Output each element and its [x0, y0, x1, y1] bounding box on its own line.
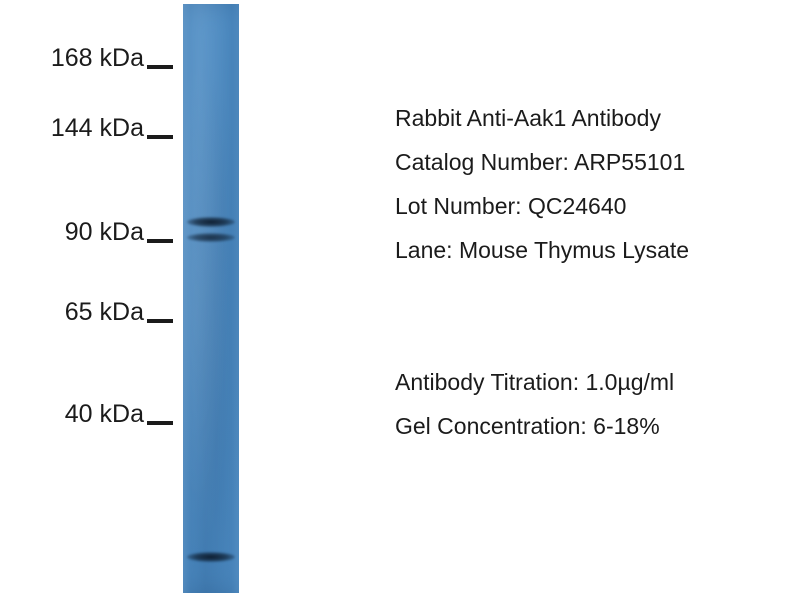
mw-marker-168: 168 kDa	[0, 38, 183, 78]
gel-lane-texture	[183, 4, 239, 593]
mw-marker-label: 65 kDa	[65, 300, 144, 325]
gel-band-lower-90	[187, 233, 235, 242]
info-lot-number: Lot Number: QC24640	[395, 184, 790, 228]
mw-marker-40: 40 kDa	[0, 394, 183, 434]
info-gel-concentration: Gel Concentration: 6-18%	[395, 404, 790, 448]
gel-band-low-mw	[187, 552, 235, 562]
mw-marker-label: 144 kDa	[51, 116, 144, 141]
mw-marker-label: 90 kDa	[65, 220, 144, 245]
antibody-info-secondary: Antibody Titration: 1.0µg/ml Gel Concent…	[395, 360, 790, 448]
mw-tick-icon	[147, 319, 173, 323]
mw-tick-icon	[147, 135, 173, 139]
mw-marker-label: 40 kDa	[65, 402, 144, 427]
info-antibody-name: Rabbit Anti-Aak1 Antibody	[395, 96, 790, 140]
info-lane-sample: Lane: Mouse Thymus Lysate	[395, 228, 790, 272]
gel-lane	[183, 4, 239, 593]
mw-marker-90: 90 kDa	[0, 212, 183, 252]
molecular-weight-ladder: 168 kDa 144 kDa 90 kDa 65 kDa 40 kDa	[0, 0, 183, 600]
mw-marker-label: 168 kDa	[51, 46, 144, 71]
mw-marker-65: 65 kDa	[0, 292, 183, 332]
info-antibody-titration: Antibody Titration: 1.0µg/ml	[395, 360, 790, 404]
mw-tick-icon	[147, 65, 173, 69]
western-blot-figure: 168 kDa 144 kDa 90 kDa 65 kDa 40 kDa Rab…	[0, 0, 800, 600]
mw-tick-icon	[147, 421, 173, 425]
antibody-info-primary: Rabbit Anti-Aak1 Antibody Catalog Number…	[395, 96, 790, 272]
info-catalog-number: Catalog Number: ARP55101	[395, 140, 790, 184]
gel-band-upper-90	[187, 217, 235, 227]
mw-tick-icon	[147, 239, 173, 243]
mw-marker-144: 144 kDa	[0, 108, 183, 148]
